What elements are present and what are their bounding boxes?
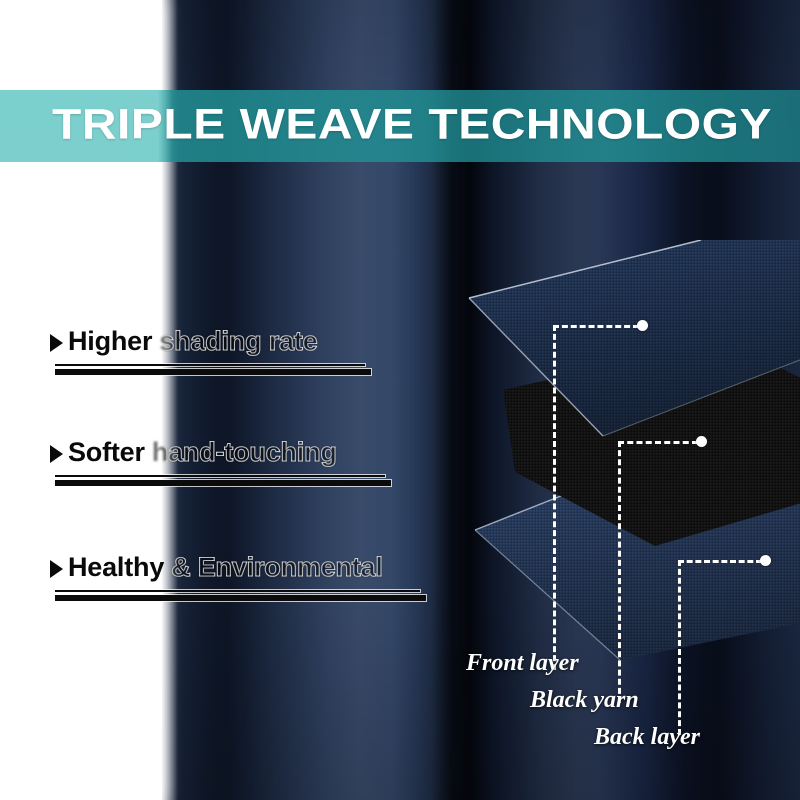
leader-vertical <box>553 325 556 670</box>
leader-vertical <box>678 560 681 735</box>
leader-dot <box>760 555 771 566</box>
title-banner: TRIPLE WEAVE TECHNOLOGY <box>0 90 800 162</box>
rule-thick <box>55 480 391 486</box>
feature-row: Softer hand-touching <box>50 437 450 468</box>
feature-rest-text: hand-touching <box>152 437 337 468</box>
feature-strong-text: Softer <box>68 437 145 468</box>
label-front-layer: Front layer <box>466 650 579 677</box>
leader-dot <box>637 320 648 331</box>
feature-underline <box>55 475 450 486</box>
feature-item-3: Healthy & Environmental <box>50 552 450 601</box>
rule-thin <box>55 364 365 366</box>
label-black-yarn: Black yarn <box>530 687 639 714</box>
feature-item-2: Softer hand-touching <box>50 437 450 486</box>
feature-item-1: Higher shading rate <box>50 326 450 375</box>
leader-dot <box>696 436 707 447</box>
feature-row: Healthy & Environmental <box>50 552 450 583</box>
banner-title: TRIPLE WEAVE TECHNOLOGY <box>52 101 772 150</box>
fabric-layer-diagram <box>455 240 800 660</box>
leader-vertical <box>618 441 621 703</box>
feature-rest-text: & Environmental <box>171 552 383 583</box>
triangle-right-icon <box>50 560 63 578</box>
label-back-layer: Back layer <box>594 724 700 751</box>
leader-horizontal <box>678 560 762 563</box>
rule-thick <box>55 595 426 601</box>
feature-row: Higher shading rate <box>50 326 450 357</box>
triangle-right-icon <box>50 445 63 463</box>
rule-thick <box>55 369 371 375</box>
leader-horizontal <box>618 441 698 444</box>
feature-underline <box>55 364 450 375</box>
feature-rest-text: shading rate <box>159 326 317 357</box>
feature-underline <box>55 590 450 601</box>
leader-horizontal <box>553 325 639 328</box>
rule-thin <box>55 475 385 477</box>
feature-strong-text: Healthy <box>68 552 164 583</box>
triangle-right-icon <box>50 334 63 352</box>
feature-strong-text: Higher <box>68 326 152 357</box>
product-feature-image: TRIPLE WEAVE TECHNOLOGY Higher shading r… <box>0 0 800 800</box>
rule-thin <box>55 590 420 592</box>
